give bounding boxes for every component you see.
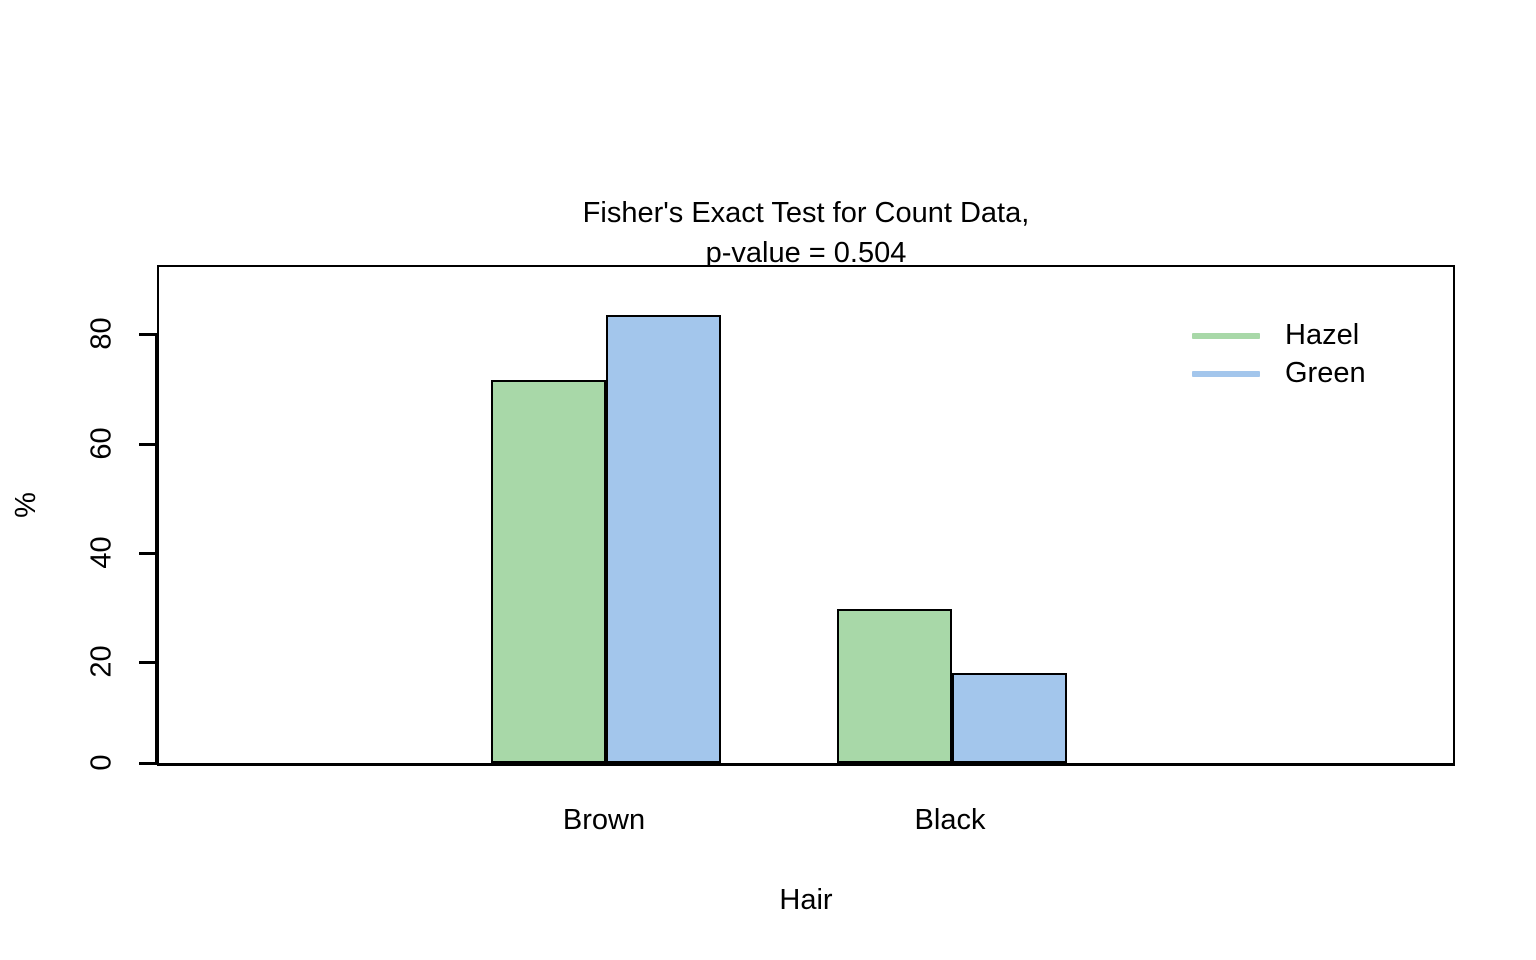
y-tick-label-0: 0 bbox=[88, 733, 117, 793]
bar-brown-hazel[interactable] bbox=[491, 380, 606, 763]
legend-label-green: Green bbox=[1285, 356, 1366, 390]
x-axis-line bbox=[157, 763, 1455, 766]
legend-entry-hazel[interactable]: Hazel bbox=[1192, 318, 1442, 356]
y-tick-label-60: 60 bbox=[88, 414, 117, 474]
legend: Hazel Green bbox=[1192, 318, 1442, 394]
legend-entry-green[interactable]: Green bbox=[1192, 356, 1442, 394]
x-tick-label-black: Black bbox=[835, 805, 1065, 835]
bar-black-hazel[interactable] bbox=[837, 609, 952, 763]
chart-title-line-1: Fisher's Exact Test for Count Data, bbox=[157, 193, 1455, 233]
y-tick-60 bbox=[139, 443, 155, 446]
bar-black-green[interactable] bbox=[952, 673, 1067, 763]
y-axis-title: % bbox=[11, 475, 41, 535]
bar-brown-green[interactable] bbox=[606, 315, 721, 763]
legend-swatch-green bbox=[1192, 371, 1260, 377]
x-tick-label-brown: Brown bbox=[489, 805, 719, 835]
x-axis-title: Hair bbox=[157, 885, 1455, 915]
y-tick-40 bbox=[139, 552, 155, 555]
y-tick-0 bbox=[139, 762, 155, 765]
y-tick-80 bbox=[139, 333, 155, 336]
y-tick-label-40: 40 bbox=[88, 523, 117, 583]
legend-swatch-hazel bbox=[1192, 333, 1260, 339]
y-tick-label-80: 80 bbox=[88, 304, 117, 364]
y-tick-label-20: 20 bbox=[88, 632, 117, 692]
bar-chart-figure: Fisher's Exact Test for Count Data, p-va… bbox=[0, 0, 1536, 960]
y-tick-20 bbox=[139, 661, 155, 664]
chart-title: Fisher's Exact Test for Count Data, p-va… bbox=[157, 193, 1455, 273]
legend-label-hazel: Hazel bbox=[1285, 318, 1359, 352]
